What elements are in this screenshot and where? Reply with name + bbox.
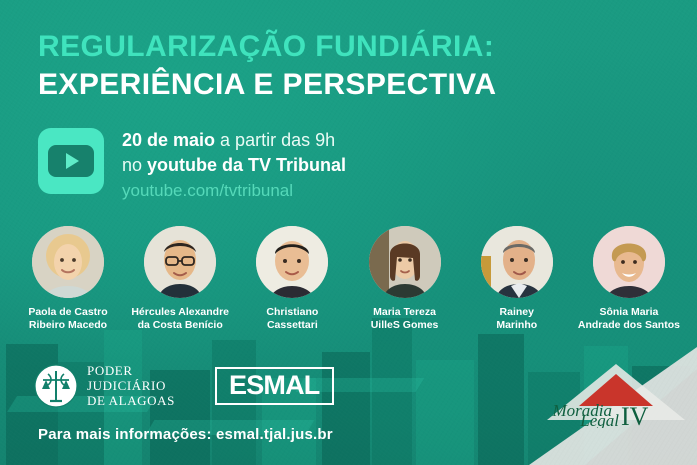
event-channel-line: no youtube da TV Tribunal bbox=[122, 153, 346, 178]
speaker-name: Sônia Maria Andrade dos Santos bbox=[578, 306, 680, 332]
event-text-block: 20 de maio a partir das 9h no youtube da… bbox=[122, 126, 346, 202]
speaker-name: Rainey Marinho bbox=[496, 306, 537, 332]
youtube-icon-body bbox=[48, 145, 94, 177]
avatar bbox=[369, 226, 441, 298]
event-channel-prefix: no bbox=[122, 155, 147, 175]
event-date-bold: 20 de maio bbox=[122, 130, 215, 150]
page-title: REGULARIZAÇÃO FUNDIÁRIA: EXPERIÊNCIA E P… bbox=[38, 30, 658, 101]
speaker-card: Rainey Marinho bbox=[463, 226, 571, 332]
speaker-card: Hércules Alexandre da Costa Benício bbox=[126, 226, 234, 332]
avatar bbox=[593, 226, 665, 298]
avatar bbox=[256, 226, 328, 298]
event-channel-bold: youtube da TV Tribunal bbox=[147, 155, 346, 175]
speaker-card: Maria Tereza UilleS Gomes bbox=[351, 226, 459, 332]
event-details: 20 de maio a partir das 9h no youtube da… bbox=[38, 126, 346, 202]
speaker-name: Paola de Castro Ribeiro Macedo bbox=[28, 306, 107, 332]
title-line-1: REGULARIZAÇÃO FUNDIÁRIA: bbox=[38, 30, 658, 64]
speakers-row: Paola de Castro Ribeiro Macedo Hércules … bbox=[0, 226, 697, 332]
speaker-name: Hércules Alexandre da Costa Benício bbox=[131, 306, 229, 332]
event-url[interactable]: youtube.com/tvtribunal bbox=[122, 179, 346, 203]
title-line-2: EXPERIÊNCIA E PERSPECTIVA bbox=[38, 68, 658, 102]
speaker-name: Maria Tereza UilleS Gomes bbox=[371, 306, 439, 332]
sponsor-logos: PODER JUDICIÁRIO DE ALAGOAS ESMAL bbox=[34, 364, 334, 408]
tjal-logo-text: PODER JUDICIÁRIO DE ALAGOAS bbox=[87, 364, 175, 408]
house-roof-triangle-icon: Moradia Legal IV bbox=[543, 362, 689, 428]
event-poster: REGULARIZAÇÃO FUNDIÁRIA: EXPERIÊNCIA E P… bbox=[0, 0, 697, 465]
youtube-play-icon[interactable] bbox=[38, 128, 104, 194]
avatar bbox=[32, 226, 104, 298]
avatar bbox=[481, 226, 553, 298]
scales-of-justice-seal-icon bbox=[34, 364, 78, 408]
esmal-logo-text: ESMAL bbox=[229, 372, 320, 399]
speaker-card: Paola de Castro Ribeiro Macedo bbox=[14, 226, 122, 332]
tjal-logo: PODER JUDICIÁRIO DE ALAGOAS bbox=[34, 364, 175, 408]
speaker-card: Christiano Cassettari bbox=[238, 226, 346, 332]
play-triangle-icon bbox=[66, 153, 79, 169]
footer-info: Para mais informações: esmal.tjal.jus.br bbox=[38, 426, 333, 443]
svg-text:Legal: Legal bbox=[579, 411, 619, 428]
svg-text:IV: IV bbox=[621, 402, 649, 428]
esmal-logo: ESMAL bbox=[215, 367, 334, 405]
speaker-name: Christiano Cassettari bbox=[266, 306, 318, 332]
avatar bbox=[144, 226, 216, 298]
moradia-legal-logo: Moradia Legal IV bbox=[543, 362, 689, 428]
speaker-card: Sônia Maria Andrade dos Santos bbox=[575, 226, 683, 332]
event-date-rest: a partir das 9h bbox=[215, 130, 335, 150]
event-date-line: 20 de maio a partir das 9h bbox=[122, 128, 346, 153]
